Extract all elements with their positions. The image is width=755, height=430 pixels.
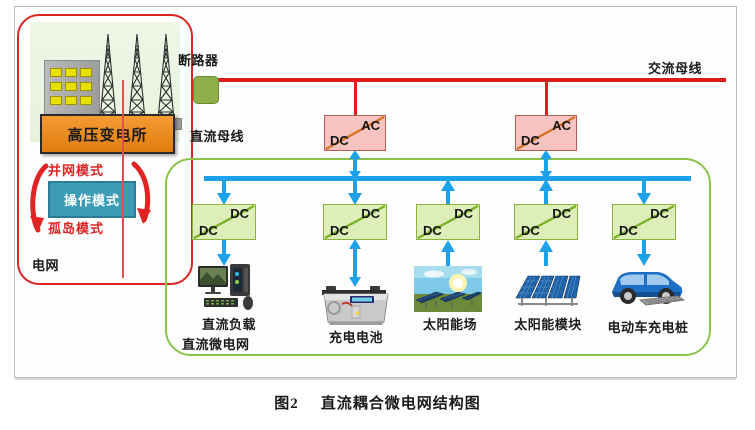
device-ev-charging-label: 电动车充电桩 (598, 317, 698, 336)
acdc-converter-1-top-label: AC (361, 118, 380, 133)
solar-panel-icon (512, 268, 584, 312)
dcdc-converter-3-bottom-label: DC (423, 223, 442, 238)
solar-farm-icon (414, 266, 482, 312)
dcdc1-bus-link-down-arrow-icon (216, 179, 232, 205)
desktop-computer-icon (196, 262, 262, 312)
dcdc-converter-4: DC DC (514, 204, 578, 240)
acdc2-ac-link (545, 80, 548, 116)
battery-icon: ⚡ (320, 284, 392, 326)
dcdc-converter-1-top-label: DC (230, 206, 249, 221)
acdc-converter-1: AC DC (324, 115, 386, 151)
dcdc-converter-5-top-label: DC (650, 206, 669, 221)
dcdc-converter-2-bottom-label: DC (330, 223, 349, 238)
acdc1-dc-link-bidirectional-arrow-icon (347, 150, 363, 180)
ac-bus-label: 交流母线 (648, 58, 702, 77)
dcdc-converter-4-top-label: DC (552, 206, 571, 221)
dcdc4-device-link-up-arrow-icon (538, 240, 554, 266)
acdc-converter-2-top-label: AC (552, 118, 571, 133)
dcdc-converter-2: DC DC (323, 204, 387, 240)
dcdc4-bus-link-up-arrow-icon (538, 179, 554, 205)
dcdc-converter-1-bottom-label: DC (199, 223, 218, 238)
dcdc3-device-link-up-arrow-icon (440, 240, 456, 266)
acdc2-dc-link-bidirectional-arrow-icon (538, 150, 554, 180)
device-battery-label: 充电电池 (315, 327, 397, 346)
mode-arrow-left-icon (26, 160, 52, 240)
circuit-breaker-label: 断路器 (178, 50, 219, 69)
figure-caption-number: 图2 (274, 396, 299, 412)
dcdc-converter-5: DC DC (612, 204, 676, 240)
acdc-converter-2-bottom-label: DC (521, 133, 540, 148)
device-ev-charging-image (606, 262, 686, 312)
device-solar-farm-image (414, 266, 482, 312)
power-plant-image: 高压变电所 (30, 22, 180, 142)
dcdc-converter-2-top-label: DC (361, 206, 380, 221)
substation-box: 高压变电所 (40, 114, 175, 154)
device-dc-load-label: 直流负载 (188, 314, 270, 333)
microgrid-container-label: 直流微电网 (182, 334, 250, 353)
device-solar-module-image (512, 268, 584, 312)
grid-feeder-line (122, 80, 124, 278)
acdc-converter-1-bottom-label: DC (330, 133, 349, 148)
dc-bus-label: 直流母线 (190, 126, 244, 145)
acdc-converter-2: AC DC (515, 115, 577, 151)
device-solar-farm-label: 太阳能场 (409, 314, 491, 333)
device-battery-image: ⚡ (320, 284, 392, 326)
dcdc-converter-3: DC DC (416, 204, 480, 240)
dcdc-converter-4-bottom-label: DC (521, 223, 540, 238)
figure-caption-title: 直流耦合微电网结构图 (321, 396, 481, 412)
device-dc-load-image (196, 262, 262, 312)
circuit-breaker[interactable] (193, 76, 219, 104)
acdc1-ac-link (354, 80, 357, 116)
transmission-towers-icon (96, 32, 182, 122)
ac-bus-line (213, 78, 726, 82)
svg-text:⚡: ⚡ (354, 309, 361, 317)
mode-arrow-right-icon (130, 158, 158, 238)
grid-container-label: 电网 (32, 255, 59, 274)
dcdc3-bus-link-up-arrow-icon (440, 179, 456, 205)
dcdc-converter-1: DC DC (192, 204, 256, 240)
figure-caption: 图2直流耦合微电网结构图 (0, 392, 755, 413)
grid-connected-mode-label: 并网模式 (48, 160, 104, 179)
island-mode-label: 孤岛模式 (48, 218, 104, 237)
dcdc2-device-link-bidirectional-arrow-icon (347, 239, 363, 287)
dcdc5-bus-link-down-arrow-icon (636, 179, 652, 205)
device-solar-module-label: 太阳能模块 (502, 314, 594, 333)
figure-canvas: 电网 高压变电所 并网模式 操作模式 孤岛模式 (0, 0, 755, 430)
dcdc2-bus-link-down-arrow-icon (347, 179, 363, 205)
dcdc-converter-5-bottom-label: DC (619, 223, 638, 238)
dcdc-converter-3-top-label: DC (454, 206, 473, 221)
electric-vehicle-icon (606, 262, 686, 312)
